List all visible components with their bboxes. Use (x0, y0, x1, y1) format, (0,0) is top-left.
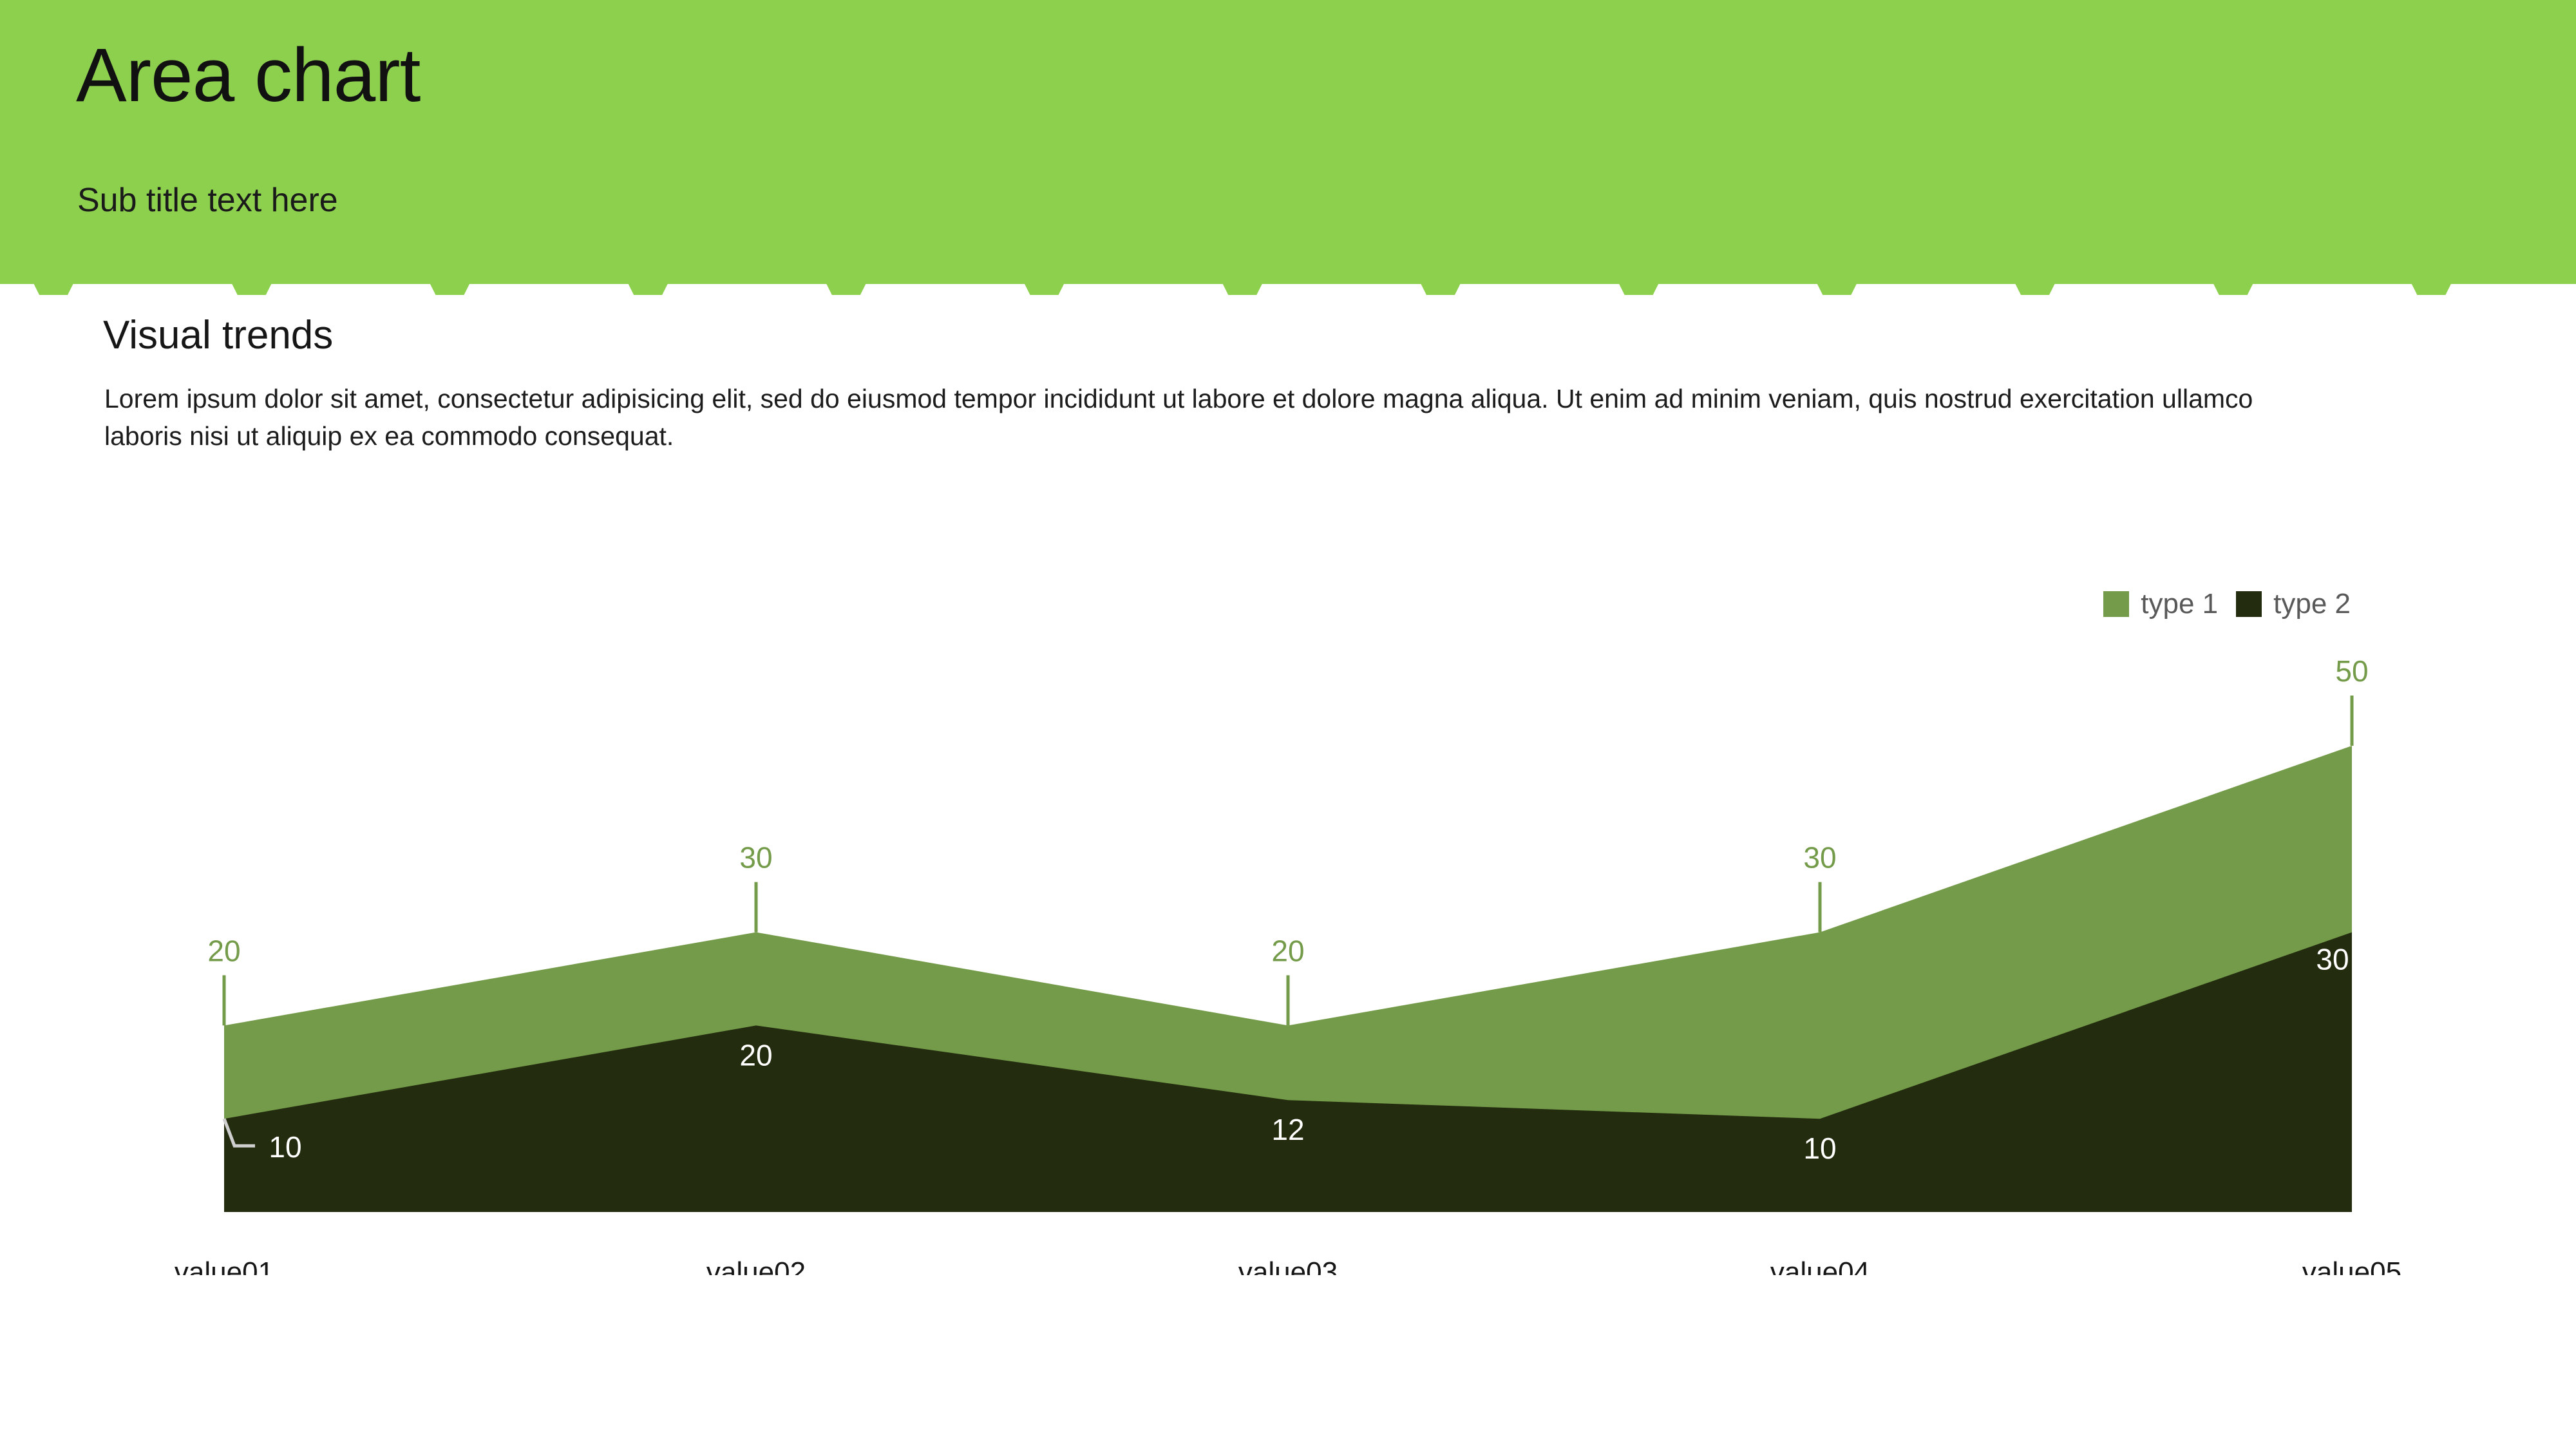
legend-swatch-type-1-icon (2103, 591, 2129, 617)
x-axis-label: value03 (1238, 1256, 1338, 1275)
x-axis-label: value01 (175, 1256, 274, 1275)
area-chart: 20302030501020121030 value01value02value… (0, 631, 2576, 1275)
value-label-type-2: 10 (1803, 1132, 1836, 1165)
value-label-type-1: 30 (739, 841, 772, 875)
value-label-type-1: 20 (207, 934, 240, 967)
page-title: Area chart (76, 37, 420, 113)
section-paragraph: Lorem ipsum dolor sit amet, consectetur … (104, 380, 2294, 455)
legend-item-type-2[interactable]: type 2 (2236, 590, 2351, 618)
film-strip-sprockets (0, 283, 2576, 299)
value-label-type-2: 10 (269, 1130, 301, 1164)
legend-label-type-1: type 1 (2141, 590, 2218, 618)
value-label-type-1: 30 (1803, 841, 1836, 875)
chart-x-axis-labels: value01value02value03value04value05 (175, 1256, 2401, 1275)
value-label-type-1: 20 (1271, 934, 1304, 967)
value-label-type-2: 12 (1271, 1113, 1304, 1146)
x-axis-label: value02 (706, 1256, 806, 1275)
legend-swatch-type-2-icon (2236, 591, 2262, 617)
page-subtitle: Sub title text here (77, 184, 338, 217)
value-label-type-2: 30 (2316, 943, 2349, 976)
header-banner: Area chart Sub title text here (0, 0, 2576, 284)
legend-item-type-1[interactable]: type 1 (2103, 590, 2218, 618)
legend-label-type-2: type 2 (2273, 590, 2351, 618)
x-axis-label: value05 (2302, 1256, 2401, 1275)
x-axis-label: value04 (1770, 1256, 1870, 1275)
value-label-type-2: 20 (739, 1038, 772, 1072)
section-heading: Visual trends (103, 316, 333, 355)
area-chart-svg: 20302030501020121030 value01value02value… (0, 631, 2576, 1275)
value-label-type-1: 50 (2335, 654, 2368, 688)
chart-legend: type 1 type 2 (2103, 587, 2351, 621)
